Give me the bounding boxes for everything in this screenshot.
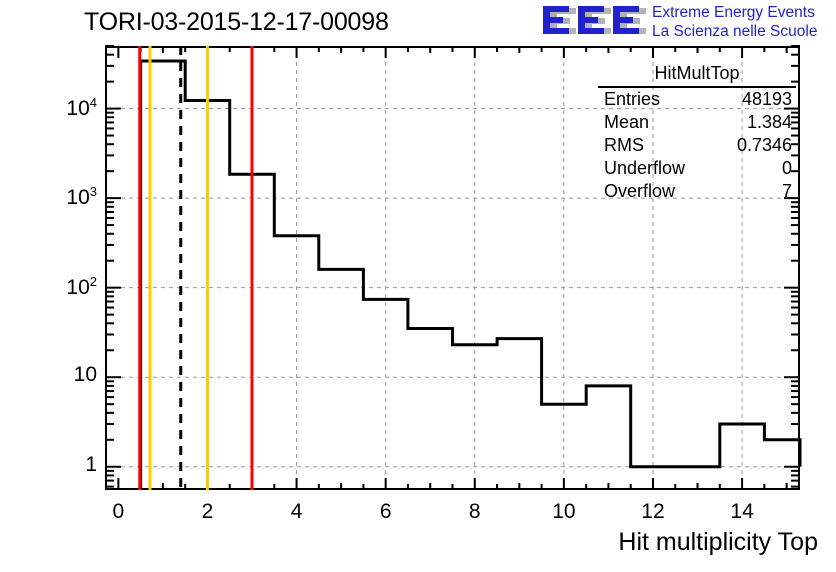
- eee-logo-line2: La Scienza nelle Scuole: [652, 22, 817, 41]
- stats-row-value: 0.7346: [737, 135, 792, 156]
- x-tick-label: 2: [177, 500, 237, 524]
- stats-row-key: Underflow: [604, 158, 685, 179]
- plot-canvas: TORI-03-2015-12-17-00098 Extreme Energy …: [0, 0, 836, 572]
- eee-logo-text: Extreme Energy Events La Scienza nelle S…: [652, 3, 817, 41]
- eee-logo: Extreme Energy Events La Scienza nelle S…: [538, 2, 836, 44]
- y-tick-label: 1: [85, 453, 97, 477]
- y-tick-label: 102: [66, 274, 97, 300]
- stats-row: RMS0.7346: [598, 134, 796, 157]
- y-tick-label: 104: [66, 95, 97, 121]
- stats-box: HitMultTop Entries48193Mean1.384RMS0.734…: [598, 62, 796, 203]
- stats-row-value: 48193: [742, 89, 792, 110]
- stats-row-value: 7: [782, 181, 792, 202]
- stats-row: Overflow7: [598, 180, 796, 203]
- x-tick-label: 8: [445, 500, 505, 524]
- x-tick-label: 0: [88, 500, 148, 524]
- x-tick-label: 10: [534, 500, 594, 524]
- y-tick-label: 103: [66, 184, 97, 210]
- stats-row: Entries48193: [598, 88, 796, 111]
- eee-logo-line1: Extreme Energy Events: [652, 3, 817, 22]
- stats-row-key: RMS: [604, 135, 644, 156]
- x-axis-title: Hit multiplicity Top: [618, 528, 818, 557]
- stats-row-key: Overflow: [604, 181, 675, 202]
- stats-row-value: 0: [782, 158, 792, 179]
- y-tick-label: 10: [74, 363, 97, 387]
- x-tick-label: 14: [712, 500, 772, 524]
- x-tick-label: 12: [623, 500, 683, 524]
- stats-row: Mean1.384: [598, 111, 796, 134]
- stats-title: HitMultTop: [598, 62, 796, 88]
- stats-row: Underflow0: [598, 157, 796, 180]
- stats-row-key: Entries: [604, 89, 660, 110]
- stats-rows: Entries48193Mean1.384RMS0.7346Underflow0…: [598, 88, 796, 203]
- stats-row-value: 1.384: [747, 112, 792, 133]
- eee-logo-mark-icon: [538, 4, 648, 38]
- stats-row-key: Mean: [604, 112, 649, 133]
- x-tick-label: 4: [267, 500, 327, 524]
- x-tick-label: 6: [356, 500, 416, 524]
- page-title: TORI-03-2015-12-17-00098: [84, 7, 389, 37]
